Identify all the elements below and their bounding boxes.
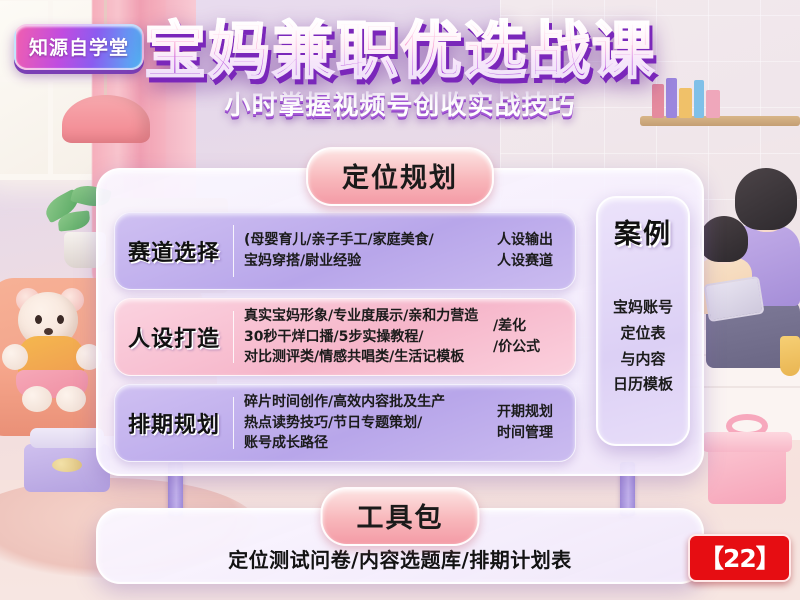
- page-subtitle: 小时掌握视频号创收实战技巧: [120, 85, 680, 122]
- mother-hair: [735, 168, 797, 230]
- table-row[interactable]: 排期规划 碎片时间创作/高效内容批及生产热点读势技巧/节日专题策划/账号成长路径…: [114, 384, 576, 462]
- row-body: (母婴育儿/亲子手工/家庭美食/宝妈穿搭/尉业经验 人设输出人设赛道: [234, 230, 575, 271]
- book: [706, 90, 720, 118]
- row-side-text: /差化/价公式: [493, 316, 569, 357]
- gift-box-lid: [702, 432, 792, 452]
- row-main-text: (母婴育儿/亲子手工/家庭美食/宝妈穿搭/尉业经验: [244, 230, 481, 271]
- storage-box-lid: [30, 428, 104, 448]
- toolkit-text: 定位测试问卷/内容选题库/排期计划表: [98, 544, 702, 573]
- table-row[interactable]: 人设打造 真实宝妈形象/专业度展示/亲和力营造30秒干烊口播/5步实操教程/对比…: [114, 298, 576, 376]
- teddy-arm: [2, 344, 28, 370]
- teddy-eye: [35, 315, 42, 324]
- teddy-nose: [44, 328, 53, 335]
- row-body: 碎片时间创作/高效内容批及生产热点读势技巧/节日专题策划/账号成长路径 开期规划…: [234, 392, 575, 454]
- book: [694, 80, 704, 118]
- row-side-text: 开期规划时间管理: [481, 402, 569, 443]
- teddy-leg: [22, 386, 52, 412]
- table-row[interactable]: 赛道选择 (母婴育儿/亲子手工/家庭美食/宝妈穿搭/尉业经验 人设输出人设赛道: [114, 212, 576, 290]
- teddy-leg: [56, 386, 86, 412]
- case-card-title: 案例: [614, 212, 672, 251]
- flower-pot: [780, 336, 800, 376]
- gift-box: [708, 444, 786, 504]
- section-pill-toolkit: 工具包: [321, 487, 480, 546]
- row-label: 人设打造: [115, 321, 233, 353]
- row-label: 赛道选择: [115, 235, 233, 267]
- case-study-card[interactable]: 案例 宝妈账号定位表与内容日历模板: [596, 196, 690, 446]
- row-side-text: 人设输出人设赛道: [481, 230, 569, 271]
- row-label: 排期规划: [115, 407, 233, 439]
- title-block: 宝妈兼职优选战课 小时掌握视频号创收实战技巧: [120, 18, 680, 122]
- child-hair: [700, 216, 748, 262]
- section-pill-positioning: 定位规划: [306, 147, 494, 206]
- row-body: 真实宝妈形象/专业度展示/亲和力营造30秒干烊口播/5步实操教程/对比测评类/情…: [234, 306, 575, 368]
- book: [679, 88, 692, 118]
- number-badge: 【22】: [688, 534, 791, 582]
- row-main-text: 真实宝妈形象/专业度展示/亲和力营造30秒干烊口播/5步实操教程/对比测评类/情…: [244, 306, 493, 368]
- storage-box-handle: [52, 458, 82, 472]
- case-card-body: 宝妈账号定位表与内容日历模板: [613, 295, 673, 398]
- row-main-text: 碎片时间创作/高效内容批及生产热点读势技巧/节日专题策划/账号成长路径: [244, 392, 481, 454]
- poster-canvas: 知源自学堂 宝妈兼职优选战课 小时掌握视频号创收实战技巧 定位规划 赛道选择 (…: [0, 0, 800, 600]
- page-title: 宝妈兼职优选战课: [120, 18, 680, 83]
- teddy-eye: [57, 315, 64, 324]
